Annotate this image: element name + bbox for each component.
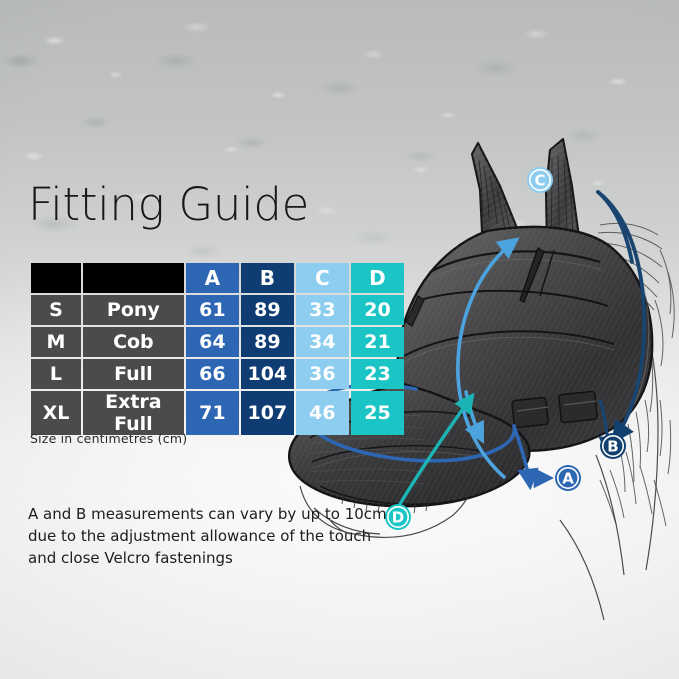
cell-name-xl: Extra Full <box>83 391 184 435</box>
measurement-disclaimer: A and B measurements can vary by up to 1… <box>28 503 388 569</box>
velcro-tab-1 <box>512 397 549 427</box>
fitting-guide-image: A B C D Fitting Guide <box>0 0 679 679</box>
velcro-tab-2 <box>559 391 598 423</box>
cell-d-l: 23 <box>351 359 404 389</box>
cell-a-m: 64 <box>186 327 239 357</box>
table-row-l: L Full 66 104 36 23 <box>31 359 404 389</box>
table-row-m: M Cob 64 89 34 21 <box>31 327 404 357</box>
header-column-a: A <box>186 263 239 293</box>
table-header-row: A B C D <box>31 263 404 293</box>
cell-b-l: 104 <box>241 359 294 389</box>
cell-d-s: 20 <box>351 295 404 325</box>
cell-size-xl: XL <box>31 391 81 435</box>
table-row-s: S Pony 61 89 33 20 <box>31 295 404 325</box>
cell-c-xl: 46 <box>296 391 349 435</box>
cell-d-xl: 25 <box>351 391 404 435</box>
marker-b-label: B <box>607 438 618 456</box>
cell-d-m: 21 <box>351 327 404 357</box>
cell-b-s: 89 <box>241 295 294 325</box>
cell-size-s: S <box>31 295 81 325</box>
size-chart-table: A B C D S Pony 61 89 33 20 M Cob 64 89 3… <box>29 261 406 437</box>
cell-name-m: Cob <box>83 327 184 357</box>
unit-note: Size in centimetres (cm) <box>30 431 187 446</box>
marker-a-label: A <box>562 470 574 488</box>
cell-size-l: L <box>31 359 81 389</box>
marker-d-label: D <box>392 509 404 527</box>
header-column-c: C <box>296 263 349 293</box>
cell-name-l: Full <box>83 359 184 389</box>
cell-c-s: 33 <box>296 295 349 325</box>
cell-b-m: 89 <box>241 327 294 357</box>
cell-name-s: Pony <box>83 295 184 325</box>
marker-c-label: C <box>534 172 545 190</box>
header-column-b: B <box>241 263 294 293</box>
fly-mask-ear-left <box>472 143 519 233</box>
cell-c-l: 36 <box>296 359 349 389</box>
header-size-blank <box>31 263 81 293</box>
page-title: Fitting Guide <box>28 182 309 227</box>
cell-a-l: 66 <box>186 359 239 389</box>
cell-b-xl: 107 <box>241 391 294 435</box>
header-column-d: D <box>351 263 404 293</box>
cell-size-m: M <box>31 327 81 357</box>
cell-c-m: 34 <box>296 327 349 357</box>
header-name-blank <box>83 263 184 293</box>
table-row-xl: XL Extra Full 71 107 46 25 <box>31 391 404 435</box>
cell-a-s: 61 <box>186 295 239 325</box>
cell-a-xl: 71 <box>186 391 239 435</box>
